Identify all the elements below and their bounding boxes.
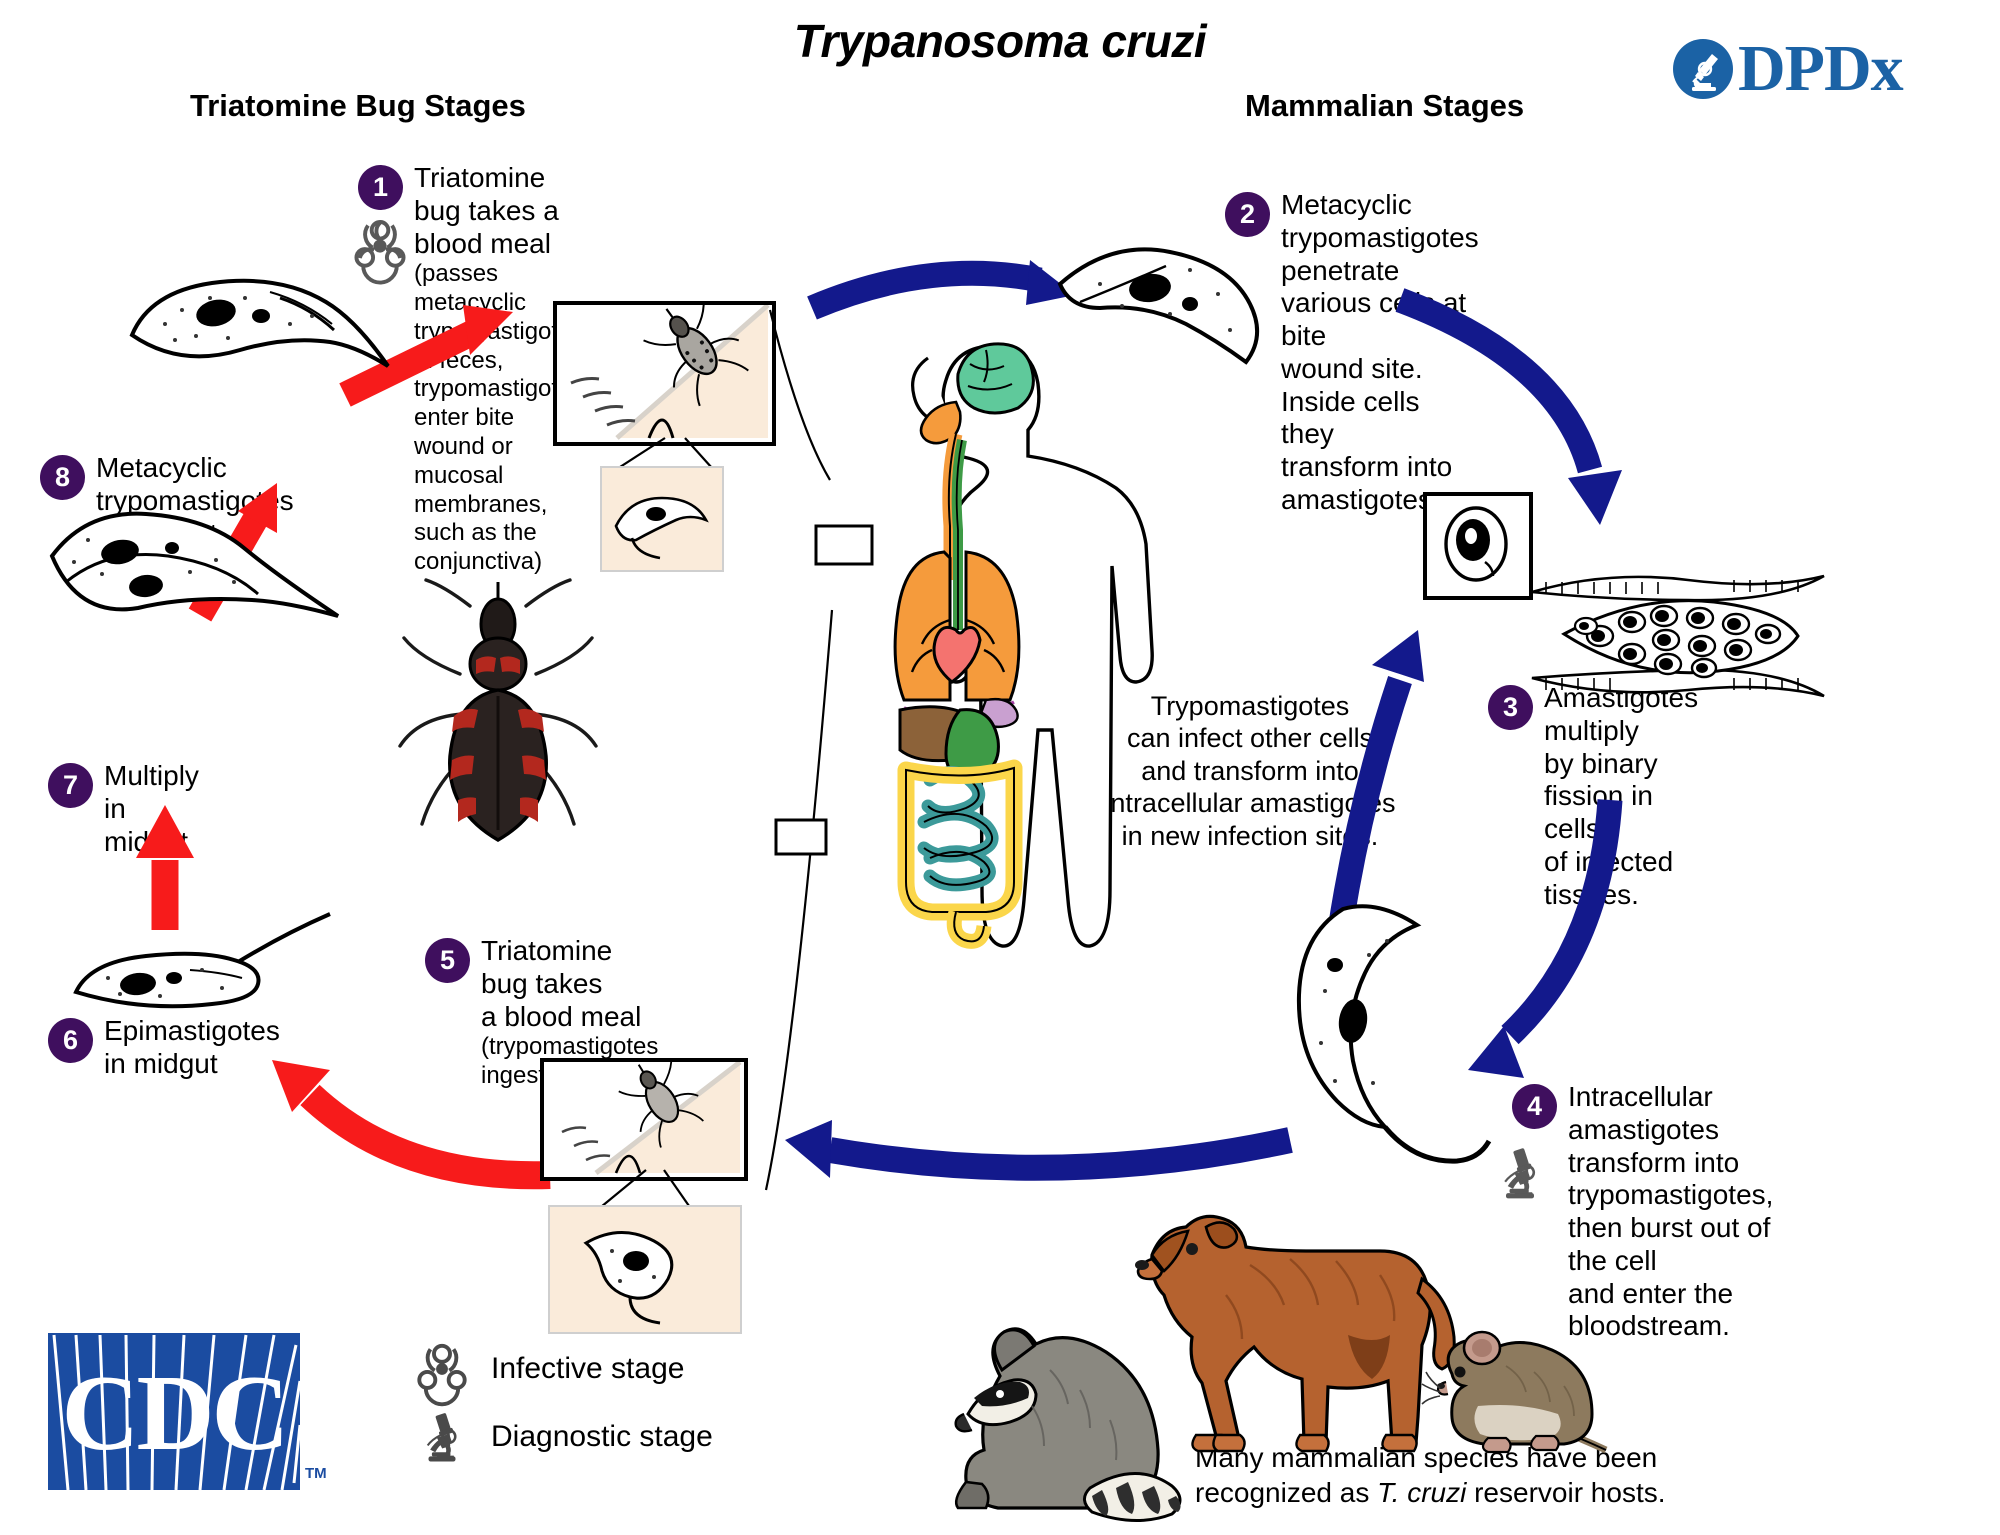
- arrow-5-to-6: [272, 1060, 550, 1175]
- dog-illustration: [1130, 1185, 1460, 1465]
- metacyclic-trypomastigote-hindgut-drawing: [120, 250, 400, 380]
- mouse-illustration: [1430, 1310, 1620, 1470]
- amastigote-nest-tissue-drawing: [1528, 560, 1828, 705]
- bloodstream-trypomastigote-drawing: [1265, 895, 1495, 1175]
- trypomastigote-inset-bottom: [548, 1205, 742, 1334]
- trypomastigote-inset-top: [600, 466, 724, 572]
- arrow-1-to-2: [812, 260, 1075, 308]
- bite-site-marker-upper: [816, 526, 872, 564]
- arrow-reinfection-up: [1340, 630, 1424, 930]
- metacyclic-trypomastigote-bite-drawing: [1040, 222, 1280, 382]
- triatomine-bug-drawing: [398, 578, 598, 858]
- amastigote-cell-inset: [1423, 492, 1533, 600]
- dividing-epimastigotes-drawing: [38, 490, 348, 630]
- human-figure-organs: [780, 330, 1220, 950]
- epimastigote-midgut-drawing: [62, 900, 352, 1030]
- bite-site-marker-lower: [776, 820, 826, 854]
